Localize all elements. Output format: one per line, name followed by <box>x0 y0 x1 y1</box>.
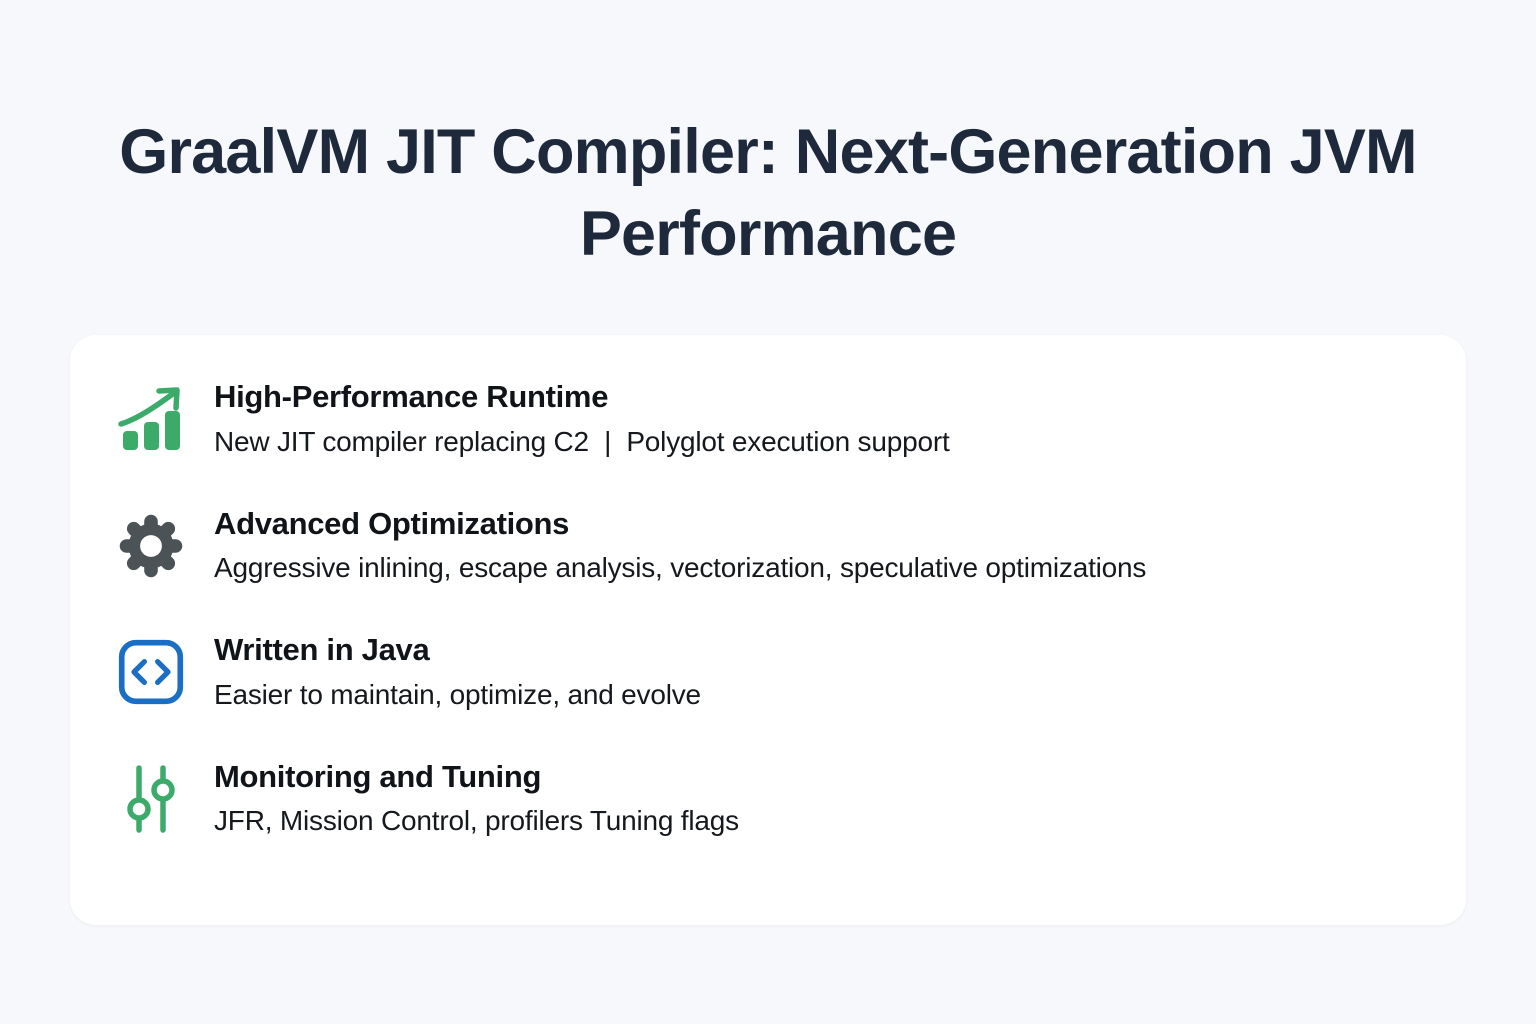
code-brackets-icon <box>114 630 188 708</box>
feature-subtitle: JFR, Mission Control, profilers Tuning f… <box>214 803 739 838</box>
features-card: High-Performance Runtime New JIT compile… <box>70 335 1466 925</box>
page-title: GraalVM JIT Compiler: Next-Generation JV… <box>118 112 1418 276</box>
feature-body: Advanced Optimizations Aggressive inlini… <box>214 504 1146 586</box>
sliders-icon <box>114 757 188 835</box>
feature-heading: Monitoring and Tuning <box>214 759 739 796</box>
feature-item-monitoring-and-tuning: Monitoring and Tuning JFR, Mission Contr… <box>114 757 1422 839</box>
feature-item-high-performance-runtime: High-Performance Runtime New JIT compile… <box>114 377 1422 459</box>
feature-item-advanced-optimizations: Advanced Optimizations Aggressive inlini… <box>114 504 1422 586</box>
feature-list: High-Performance Runtime New JIT compile… <box>114 369 1422 838</box>
feature-body: Written in Java Easier to maintain, opti… <box>214 630 701 712</box>
feature-body: Monitoring and Tuning JFR, Mission Contr… <box>214 757 739 839</box>
gear-icon <box>114 504 188 582</box>
feature-heading: Advanced Optimizations <box>214 506 1146 543</box>
feature-body: High-Performance Runtime New JIT compile… <box>214 377 950 459</box>
feature-heading: High-Performance Runtime <box>214 379 950 416</box>
feature-subtitle: Aggressive inlining, escape analysis, ve… <box>214 550 1146 585</box>
feature-heading: Written in Java <box>214 632 701 669</box>
feature-item-written-in-java: Written in Java Easier to maintain, opti… <box>114 630 1422 712</box>
feature-subtitle: New JIT compiler replacing C2 | Polyglot… <box>214 424 950 459</box>
bar-chart-growth-icon <box>114 377 188 455</box>
slide-root: GraalVM JIT Compiler: Next-Generation JV… <box>0 0 1536 1024</box>
feature-subtitle: Easier to maintain, optimize, and evolve <box>214 677 701 712</box>
